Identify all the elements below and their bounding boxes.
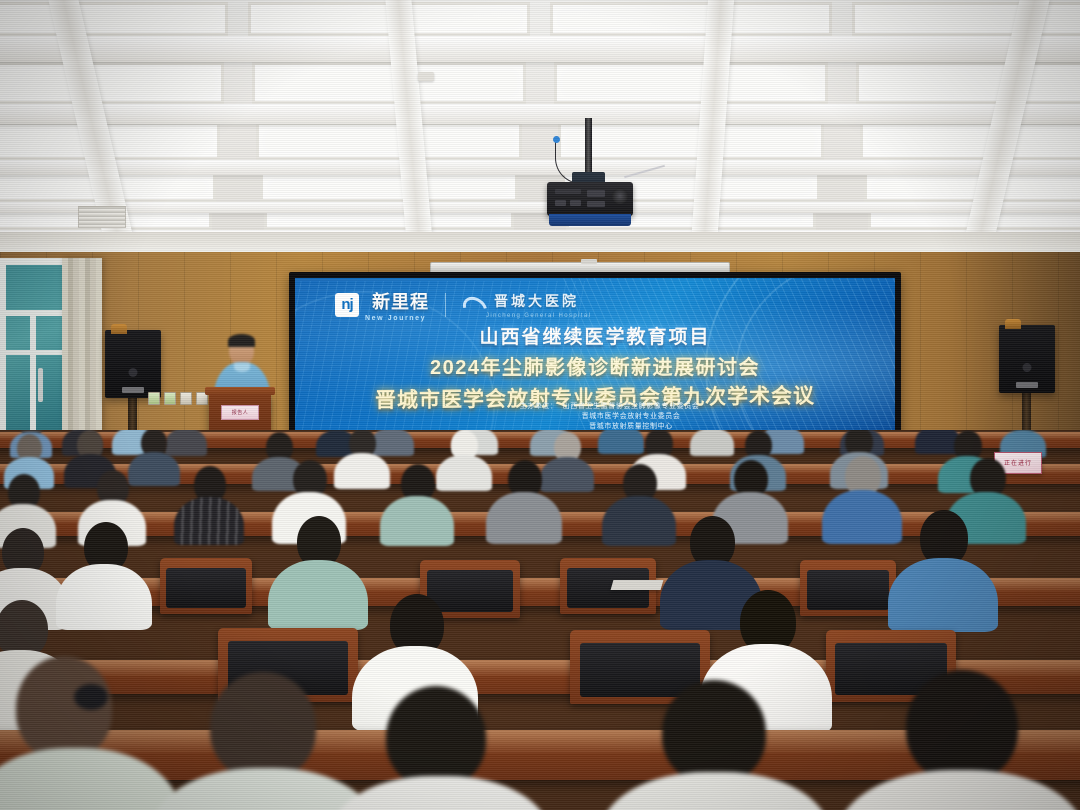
screen-title-line2: 2024年尘肺影像诊断新进展研讨会 <box>295 351 895 380</box>
light-switch[interactable] <box>164 392 176 405</box>
ceiling-beam <box>0 160 1080 175</box>
led-display: nj 新里程 New Journey 晋城大医院 Jincheng Genera… <box>295 278 895 441</box>
organizer-row: 主办单位： 山西省卫生监督协会尘肺影像专业委员会 <box>295 402 895 412</box>
chair[interactable] <box>160 558 252 614</box>
new-journey-logo-cn: 新里程 <box>372 292 429 312</box>
air-vent <box>78 206 126 228</box>
podium-top <box>205 387 275 395</box>
pinstripe-pattern <box>174 497 244 545</box>
water-bottle[interactable] <box>824 705 857 800</box>
speaker-driver-icon <box>1023 363 1032 372</box>
presenter-hair <box>228 334 255 347</box>
audience-head <box>662 680 766 784</box>
wall-speaker-right <box>999 325 1055 393</box>
projector-mount-rod <box>585 118 592 176</box>
audience-area: 正在进行 <box>0 430 1080 810</box>
light-panel <box>860 122 1080 160</box>
organizer-value: 晋城市医学会放射专业委员会 <box>582 412 681 422</box>
light-panel <box>260 172 518 202</box>
podium-nameplate: 报告人 <box>221 405 259 420</box>
ceiling <box>0 0 1080 258</box>
light-panel <box>558 122 824 160</box>
light-panel <box>856 62 1080 104</box>
hair-tie <box>74 684 108 710</box>
water-bottle[interactable] <box>232 706 265 799</box>
light-panel <box>252 62 526 104</box>
ceiling-light-row <box>0 210 1080 230</box>
light-switch[interactable] <box>148 392 160 405</box>
light-panel <box>0 62 224 104</box>
projector-indicator-icon <box>553 136 560 143</box>
screen-title-block: 山西省继续医学教育项目 2024年尘肺影像诊断新进展研讨会 晋城市医学会放射专业… <box>295 322 895 412</box>
audience-torso <box>486 492 562 544</box>
hospital-logo-en: Jincheng General Hospital <box>486 313 591 319</box>
audience-head <box>386 686 486 788</box>
hospital-logo-cn: 晋城大医院 <box>494 293 579 309</box>
ceiling-light-row <box>0 2 1080 36</box>
light-switch[interactable] <box>180 392 192 405</box>
presenter-collar <box>234 363 250 372</box>
ceiling-beam <box>0 104 1080 124</box>
new-journey-logo-mark: nj <box>335 293 359 317</box>
hospital-logo-icon <box>462 295 486 315</box>
audience-torso <box>330 776 550 810</box>
audience-torso <box>600 772 830 810</box>
ceiling-beam <box>0 202 1080 213</box>
screen-logo-row: nj 新里程 New Journey 晋城大医院 Jincheng Genera… <box>335 288 855 322</box>
audience-torso <box>836 770 1080 810</box>
screen-title-line1: 山西省继续医学教育项目 <box>295 322 895 349</box>
light-panel <box>264 210 514 230</box>
logo-divider <box>445 293 446 317</box>
light-panel <box>864 172 1080 202</box>
light-panel <box>554 62 828 104</box>
led-display-bezel: nj 新里程 New Journey 晋城大医院 Jincheng Genera… <box>289 272 901 447</box>
notebook[interactable] <box>611 580 664 590</box>
projector-base <box>549 214 631 226</box>
light-panel <box>550 2 832 36</box>
organizer-label <box>510 412 582 422</box>
new-journey-logo-en: New Journey <box>365 315 429 322</box>
light-panel <box>0 2 228 36</box>
speaker-badge <box>122 387 144 393</box>
window-handle[interactable] <box>38 368 43 402</box>
speaker-bracket <box>111 324 127 334</box>
audience-torso <box>888 558 998 632</box>
organizer-label: 主办单位： <box>491 402 563 412</box>
ceiling-light-row <box>0 172 1080 202</box>
water-bottle[interactable] <box>316 710 349 803</box>
audience-torso <box>690 430 734 456</box>
audience-head <box>906 670 1018 782</box>
ceiling-light-row <box>0 62 1080 104</box>
screen-pull-tab <box>581 259 597 264</box>
ceiling-light-row <box>0 122 1080 160</box>
organizer-value: 山西省卫生监督协会尘肺影像专业委员会 <box>563 402 700 412</box>
speaker-badge <box>1016 382 1038 388</box>
conference-photo: nj 新里程 New Journey 晋城大医院 Jincheng Genera… <box>0 0 1080 810</box>
speaker-driver-icon <box>129 368 138 377</box>
ceiling-beam <box>0 36 1080 62</box>
smoke-detector-icon <box>418 72 434 81</box>
light-panel <box>256 122 522 160</box>
projector-lens-icon <box>612 188 628 204</box>
audience-torso <box>380 496 454 546</box>
organizer-row: 晋城市医学会放射专业委员会 <box>295 412 895 422</box>
speaker-bracket <box>1005 319 1021 329</box>
wall-speaker-left <box>105 330 161 398</box>
